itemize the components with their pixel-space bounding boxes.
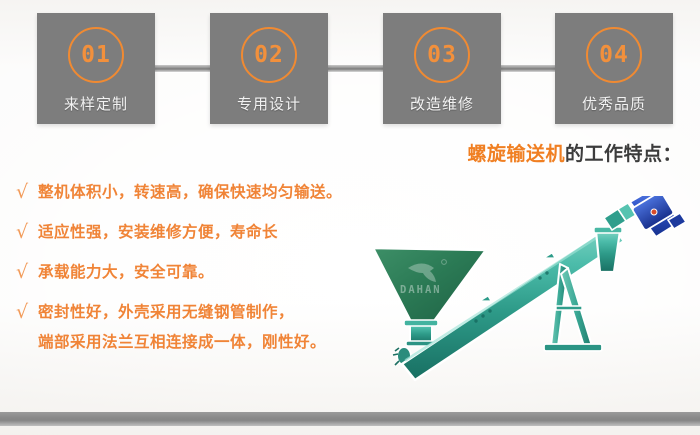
list-item: √ 承载能力大，安全可靠。 bbox=[16, 262, 396, 283]
feature-text-line2: 端部采用法兰互相连接成一体，刚性好。 bbox=[38, 332, 326, 353]
headline-suffix: 的工作特点： bbox=[565, 143, 682, 165]
step-card-4[interactable]: 04 优秀品质 bbox=[555, 13, 673, 124]
step-number-circle-icon: 04 bbox=[586, 27, 642, 83]
section-headline: 螺旋输送机的工作特点： bbox=[467, 139, 682, 166]
check-icon: √ bbox=[16, 262, 38, 282]
step-strip: 01 来样定制 02 专用设计 03 改造维修 04 优秀品质 bbox=[0, 0, 700, 132]
step-number: 02 bbox=[254, 44, 284, 67]
step-label: 来样定制 bbox=[64, 93, 128, 114]
step-label: 优秀品质 bbox=[582, 93, 646, 114]
promo-banner: 01 来样定制 02 专用设计 03 改造维修 04 优秀品质 螺旋输送机的工作… bbox=[0, 0, 700, 435]
hopper-brand-text: DAHAN bbox=[400, 284, 442, 296]
list-item: √ 密封性好，外壳采用无缝钢管制作， 端部采用法兰互相连接成一体，刚性好。 bbox=[16, 302, 396, 353]
product-illustration: DAHAN bbox=[368, 196, 690, 396]
bottom-bar bbox=[0, 412, 700, 426]
step-number-circle-icon: 03 bbox=[414, 27, 470, 83]
step-number: 01 bbox=[81, 44, 111, 67]
check-icon: √ bbox=[16, 182, 38, 202]
hopper-group: DAHAN bbox=[373, 248, 486, 324]
step-number-circle-icon: 02 bbox=[241, 27, 297, 83]
headline-product-name: 螺旋输送机 bbox=[467, 143, 565, 165]
feature-text: 承载能力大，安全可靠。 bbox=[38, 262, 214, 283]
step-card-3[interactable]: 03 改造维修 bbox=[383, 13, 501, 124]
feature-text: 密封性好，外壳采用无缝钢管制作， bbox=[38, 303, 294, 321]
discharge-spout bbox=[594, 227, 622, 272]
screw-conveyor-svg: DAHAN bbox=[368, 196, 690, 396]
step-card-2[interactable]: 02 专用设计 bbox=[210, 13, 328, 124]
list-item: √ 适应性强，安装维修方便，寿命长 bbox=[16, 222, 396, 243]
step-label: 专用设计 bbox=[237, 93, 301, 114]
step-label: 改造维修 bbox=[410, 93, 474, 114]
feature-list: √ 整机体积小，转速高，确保快速均匀输送。 √ 适应性强，安装维修方便，寿命长 … bbox=[16, 182, 396, 372]
feature-text: 整机体积小，转速高，确保快速均匀输送。 bbox=[38, 182, 342, 203]
check-icon: √ bbox=[16, 222, 38, 242]
tube-flanges bbox=[604, 203, 636, 230]
feature-text: 适应性强，安装维修方便，寿命长 bbox=[38, 222, 278, 243]
list-item: √ 整机体积小，转速高，确保快速均匀输送。 bbox=[16, 182, 396, 203]
step-number: 04 bbox=[599, 44, 629, 67]
step-number-circle-icon: 01 bbox=[68, 27, 124, 83]
check-icon: √ bbox=[16, 302, 38, 322]
drive-motor bbox=[630, 196, 686, 237]
step-number: 03 bbox=[427, 44, 457, 67]
step-card-1[interactable]: 01 来样定制 bbox=[37, 13, 155, 124]
